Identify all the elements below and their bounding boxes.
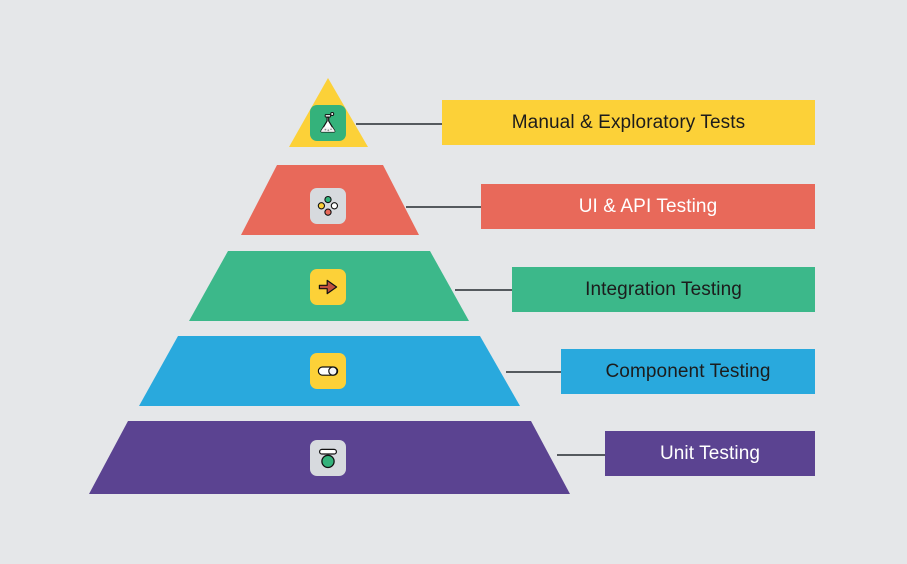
label-text-unit: Unit Testing [660, 443, 760, 465]
connector-line-ui-api [406, 206, 482, 208]
flask-icon [310, 105, 346, 141]
connector-line-manual-exploratory [356, 123, 442, 125]
testing-pyramid-diagram: Manual & Exploratory Tests UI & API Test… [0, 0, 907, 564]
label-box-unit[interactable]: Unit Testing [605, 431, 815, 476]
label-box-component[interactable]: Component Testing [561, 349, 815, 394]
connector-line-integration [455, 289, 513, 291]
label-text-component: Component Testing [605, 361, 770, 383]
unit-button-icon [310, 440, 346, 476]
label-box-manual-exploratory[interactable]: Manual & Exploratory Tests [442, 100, 815, 145]
arrow-right-icon-glyph [315, 274, 341, 300]
label-text-ui-api: UI & API Testing [579, 196, 718, 218]
label-box-integration[interactable]: Integration Testing [512, 267, 815, 312]
toggle-switch-icon-glyph [315, 358, 341, 384]
flask-icon-glyph [315, 110, 341, 136]
arrow-right-icon [310, 269, 346, 305]
connector-line-unit [557, 454, 607, 456]
test-dots-icon-glyph [315, 193, 341, 219]
unit-button-icon-glyph [315, 445, 341, 471]
toggle-switch-icon [310, 353, 346, 389]
test-dots-icon [310, 188, 346, 224]
label-box-ui-api[interactable]: UI & API Testing [481, 184, 815, 229]
label-text-manual-exploratory: Manual & Exploratory Tests [512, 112, 746, 134]
label-text-integration: Integration Testing [585, 279, 742, 301]
connector-line-component [506, 371, 562, 373]
